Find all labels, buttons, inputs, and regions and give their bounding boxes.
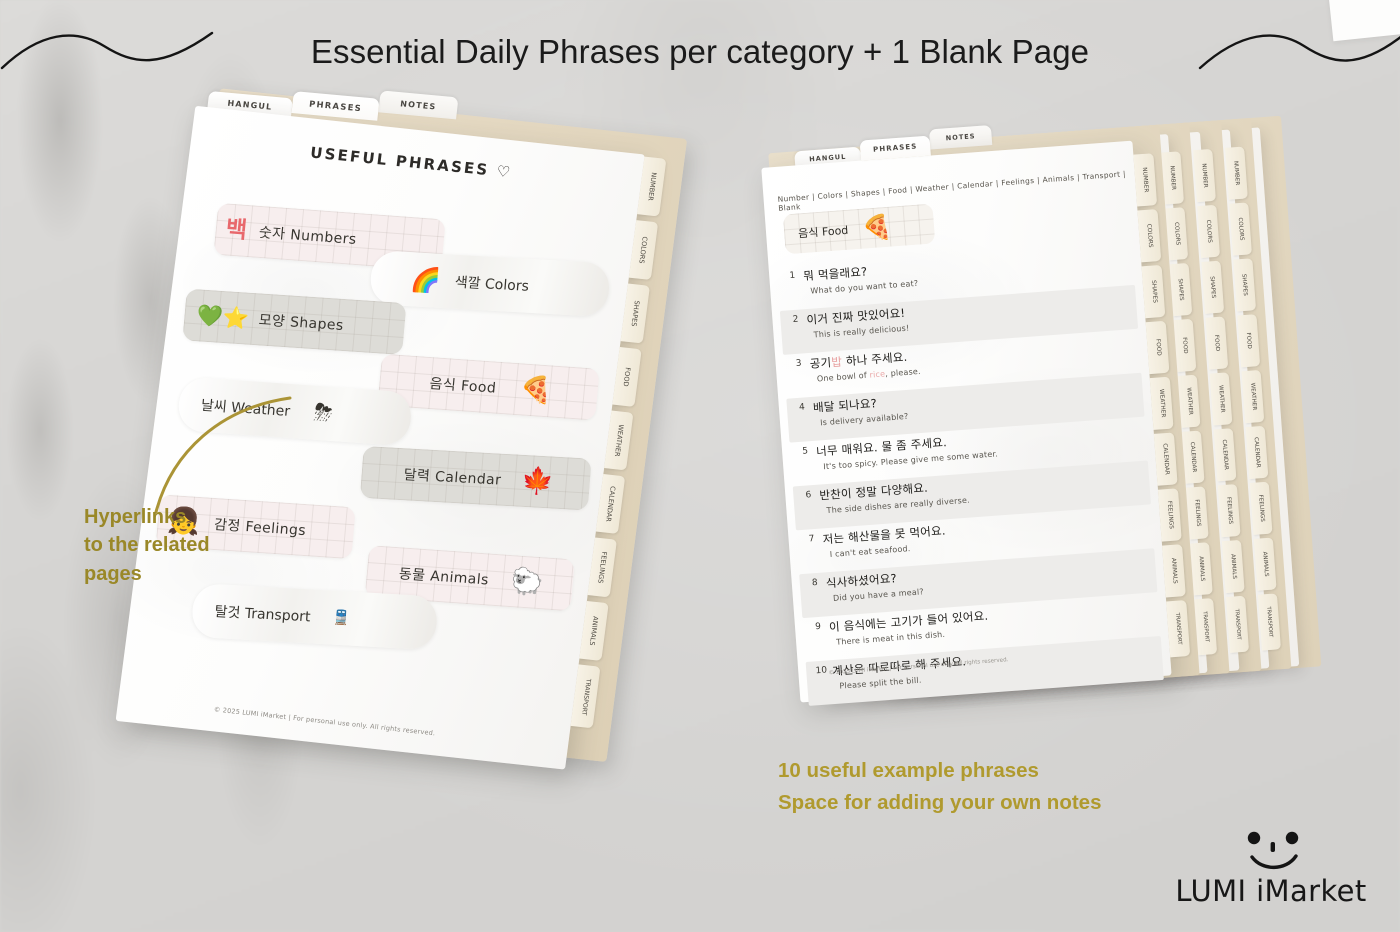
phrase-number: 5	[794, 444, 817, 458]
rainbow-icon: 🌈	[410, 265, 442, 295]
category-card-shapes[interactable]: 💚⭐ 모양 Shapes	[182, 289, 406, 355]
stack3-side-tab-animals[interactable]: ANIMALS	[1254, 537, 1277, 590]
stack1-side-tab-food[interactable]: FOOD	[1174, 319, 1197, 372]
stack3-side-tab-food[interactable]: FOOD	[1237, 314, 1260, 367]
side-tab-number-label: NUMBER	[646, 172, 658, 201]
category-label-calendar: 달력 Calendar	[403, 464, 502, 489]
side-tab-food-label: FOOD	[622, 367, 632, 387]
train-icon: 🚆	[332, 610, 351, 627]
right-side-tab-food[interactable]: FOOD	[1146, 321, 1170, 374]
stack3-side-tab-transport[interactable]: TRANSPORT	[1258, 593, 1281, 650]
category-label-transport: 탈것 Transport	[214, 601, 311, 626]
right-side-tab-feelings[interactable]: FEELINGS	[1158, 488, 1182, 541]
right-page-sheet: Number | Colors | Shapes | Food | Weathe…	[761, 141, 1171, 703]
category-card-food[interactable]: 음식 Food 🍕	[377, 354, 599, 421]
side-tab-transport-label: TRANSPORT	[580, 678, 592, 715]
right-page-stack: NUMBER COLORS SHAPES FOOD WEATHER CALEND…	[760, 109, 1361, 728]
stack2-side-tab-transport[interactable]: TRANSPORT	[1226, 596, 1249, 653]
right-side-tab-calendar-label: CALENDAR	[1162, 443, 1170, 475]
tab-notes-label: NOTES	[400, 99, 437, 111]
annotation-hyperlinks: Hyperlinks to the related pages	[84, 503, 284, 588]
hangul-baek-icon: 백	[225, 218, 248, 242]
phrase-number: 2	[784, 312, 807, 326]
phrase-number: 7	[800, 531, 823, 545]
page-title: Essential Daily Phrases per category + 1…	[0, 33, 1400, 71]
side-tab-shapes-label: SHAPES	[630, 300, 641, 327]
category-card-colors[interactable]: 🌈 색깔 Colors	[369, 250, 611, 317]
stack2-side-tab-shapes[interactable]: SHAPES	[1201, 261, 1224, 314]
stack2-side-tab-weather[interactable]: WEATHER	[1210, 372, 1233, 425]
annotation-bottom-line2: Space for adding your own notes	[778, 787, 1101, 819]
right-side-tab-shapes-label: SHAPES	[1150, 280, 1158, 303]
tab-phrases-label: PHRASES	[309, 99, 363, 114]
right-side-tab-transport-label: TRANSPORT	[1174, 612, 1182, 644]
side-tab-colors-label: COLORS	[638, 236, 649, 264]
category-label-shapes: 모양 Shapes	[258, 309, 345, 335]
maple-leaf-icon: 🍁	[520, 468, 554, 496]
phrase-number: 4	[790, 400, 813, 414]
right-side-tab-calendar[interactable]: CALENDAR	[1154, 432, 1178, 485]
stack1-side-tab-number[interactable]: NUMBER	[1161, 151, 1184, 204]
storm-cloud-icon: ⛈	[313, 400, 334, 427]
right-side-tab-food-label: FOOD	[1154, 339, 1161, 356]
side-tab-weather-label: WEATHER	[613, 424, 625, 457]
right-side-tab-transport[interactable]: TRANSPORT	[1166, 600, 1190, 657]
phrase-number: 3	[787, 356, 810, 370]
phrase-number: 9	[807, 619, 830, 633]
category-label-food: 음식 Food	[429, 373, 497, 398]
stack2-side-tab-calendar[interactable]: CALENDAR	[1214, 428, 1237, 481]
right-tab-notes-label: NOTES	[945, 132, 975, 142]
stack1-side-tab-calendar[interactable]: CALENDAR	[1182, 430, 1205, 483]
stack1-side-tab-shapes[interactable]: SHAPES	[1169, 263, 1192, 316]
stack3-side-tab-shapes[interactable]: SHAPES	[1233, 258, 1256, 311]
phrase-number: 8	[803, 575, 826, 589]
stack1-side-tab-animals[interactable]: ANIMALS	[1190, 542, 1213, 595]
stack1-side-tab-weather[interactable]: WEATHER	[1178, 375, 1201, 428]
hyperlink-pointer-curve	[150, 380, 300, 520]
right-side-tab-colors[interactable]: COLORS	[1137, 209, 1161, 262]
right-side-tab-animals[interactable]: ANIMALS	[1162, 544, 1186, 597]
brand-name: LUMI iMarket	[1158, 874, 1384, 908]
sheep-icon: 🐑	[510, 568, 545, 596]
side-tab-animals-label: ANIMALS	[588, 616, 600, 646]
side-tab-calendar-label: CALENDAR	[604, 486, 617, 523]
pizza-icon: 🍕	[861, 213, 893, 243]
stack2-side-tab-number[interactable]: NUMBER	[1193, 149, 1216, 202]
heart-star-icon: 💚⭐	[196, 305, 250, 329]
category-label-animals: 동물 Animals	[398, 563, 490, 589]
stack1-side-tab-colors[interactable]: COLORS	[1165, 207, 1188, 260]
annotation-hyperlinks-line1: Hyperlinks	[84, 503, 284, 531]
stack1-side-tab-feelings[interactable]: FEELINGS	[1186, 486, 1209, 539]
right-tab-phrases-label: PHRASES	[873, 142, 918, 153]
right-side-tab-feelings-label: FEELINGS	[1166, 501, 1174, 529]
phrase-number: 1	[781, 268, 804, 282]
annotation-hyperlinks-line2: to the related	[84, 531, 284, 559]
category-card-calendar[interactable]: 달력 Calendar 🍁	[360, 446, 592, 511]
right-side-tab-animals-label: ANIMALS	[1170, 558, 1178, 584]
category-label-colors: 색깔 Colors	[454, 272, 530, 296]
stack2-side-tab-feelings[interactable]: FEELINGS	[1218, 484, 1241, 537]
stack2-side-tab-colors[interactable]: COLORS	[1197, 205, 1220, 258]
stack3-side-tab-feelings[interactable]: FEELINGS	[1250, 482, 1273, 535]
stack3-side-tab-number[interactable]: NUMBER	[1225, 147, 1248, 200]
stack3-side-tab-colors[interactable]: COLORS	[1229, 202, 1252, 255]
stack2-side-tab-animals[interactable]: ANIMALS	[1222, 540, 1245, 593]
stack3-side-tab-calendar[interactable]: CALENDAR	[1246, 426, 1269, 479]
annotation-bottom: 10 useful example phrases Space for addi…	[778, 755, 1101, 819]
right-side-tab-colors-label: COLORS	[1145, 224, 1153, 248]
side-tab-feelings-label: FEELINGS	[596, 551, 608, 584]
smiley-face-icon	[1158, 826, 1384, 874]
annotation-hyperlinks-line3: pages	[84, 560, 284, 588]
left-page-footer: © 2025 LUMI iMarket | For personal use o…	[213, 705, 435, 737]
right-side-tab-weather-label: WEATHER	[1158, 389, 1166, 418]
category-card-food-header[interactable]: 음식 Food 🍕	[783, 204, 936, 255]
phrase-number: 6	[797, 488, 820, 502]
right-side-tab-weather[interactable]: WEATHER	[1150, 377, 1174, 430]
pizza-icon: 🍕	[519, 376, 554, 404]
right-side-tab-number[interactable]: NUMBER	[1133, 153, 1157, 206]
brand-logo: LUMI iMarket	[1158, 826, 1384, 908]
category-label-numbers: 숫자 Numbers	[258, 222, 357, 249]
stack3-side-tab-weather[interactable]: WEATHER	[1242, 370, 1265, 423]
right-side-tab-shapes[interactable]: SHAPES	[1142, 265, 1166, 318]
annotation-bottom-line1: 10 useful example phrases	[778, 755, 1101, 787]
stack2-side-tab-food[interactable]: FOOD	[1205, 316, 1228, 369]
left-page-title: USEFUL PHRASES ♡	[309, 143, 513, 181]
breadcrumb[interactable]: Number | Colors | Shapes | Food | Weathe…	[777, 169, 1127, 213]
food-card-label: 음식 Food	[798, 222, 849, 242]
right-side-tab-number-label: NUMBER	[1141, 167, 1149, 193]
